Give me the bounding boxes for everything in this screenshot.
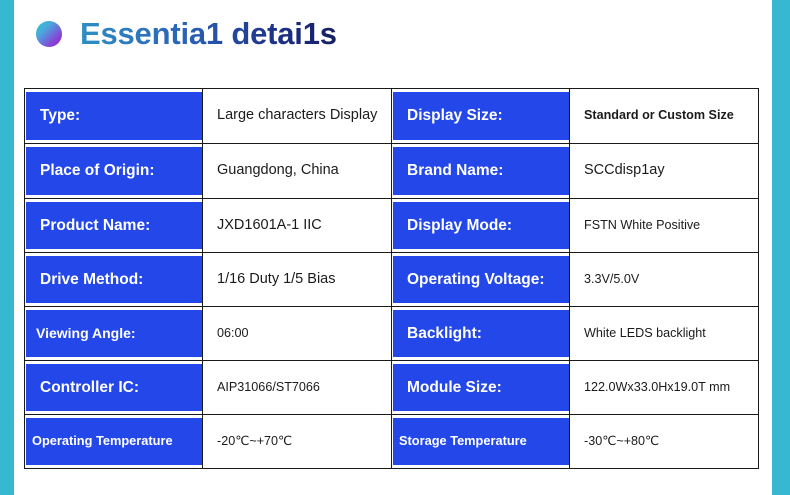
spec-label-cell: Display Mode: <box>392 199 570 253</box>
spec-label-cell: Drive Method: <box>25 253 203 307</box>
spec-value: 06:00 <box>203 326 391 341</box>
table-row: Product Name: JXD1601A-1 IIC Display Mod… <box>25 199 759 253</box>
spec-value-cell: 3.3V/5.0V <box>570 253 759 307</box>
spec-value: SCCdisp1ay <box>570 162 758 179</box>
spec-value: Standard or Custom Size <box>570 108 758 123</box>
spec-value: 1/16 Duty 1/5 Bias <box>203 271 391 288</box>
page-title: Essentia1 detai1s <box>80 18 337 49</box>
spec-label-cell: Place of Origin: <box>25 144 203 199</box>
spec-label: Display Mode: <box>393 217 512 234</box>
spec-value-cell: 1/16 Duty 1/5 Bias <box>203 253 392 307</box>
right-accent-bar <box>772 0 790 495</box>
table-row: Drive Method: 1/16 Duty 1/5 Bias Operati… <box>25 253 759 307</box>
spec-value-cell: Large characters Display <box>203 89 392 144</box>
spec-label: Display Size: <box>393 107 503 124</box>
spec-value-cell: White LEDS backlight <box>570 307 759 361</box>
spec-label: Operating Temperature <box>26 434 173 448</box>
spec-value: 3.3V/5.0V <box>570 272 758 287</box>
spec-label-cell: Module Size: <box>392 361 570 415</box>
spec-label: Place of Origin: <box>26 162 155 179</box>
spec-value-cell: SCCdisp1ay <box>570 144 759 199</box>
spec-label: Brand Name: <box>393 162 503 179</box>
spec-label-cell: Product Name: <box>25 199 203 253</box>
table-row: Controller IC: AIP31066/ST7066 Module Si… <box>25 361 759 415</box>
page-header: Essentia1 detai1s <box>36 18 337 49</box>
spec-label-cell: Operating Temperature <box>25 415 203 469</box>
spec-value: White LEDS backlight <box>570 326 758 341</box>
spec-value-cell: FSTN White Positive <box>570 199 759 253</box>
spec-label: Storage Temperature <box>393 434 527 448</box>
spec-value: -20℃~+70℃ <box>203 434 391 449</box>
table-row: Operating Temperature -20℃~+70℃ Storage … <box>25 415 759 469</box>
spec-label: Controller IC: <box>26 379 139 396</box>
spec-label-cell: Display Size: <box>392 89 570 144</box>
spec-label-cell: Controller IC: <box>25 361 203 415</box>
spec-label: Type: <box>26 107 80 124</box>
spec-label: Operating Voltage: <box>393 271 545 288</box>
spec-label-cell: Type: <box>25 89 203 144</box>
spec-label: Drive Method: <box>26 271 143 288</box>
spec-value-cell: 06:00 <box>203 307 392 361</box>
spec-label-cell: Viewing Angle: <box>25 307 203 361</box>
spec-value: FSTN White Positive <box>570 218 758 233</box>
table-row: Place of Origin: Guangdong, China Brand … <box>25 144 759 199</box>
specifications-table: Type: Large characters Display Display S… <box>24 88 759 469</box>
spec-value-cell: JXD1601A-1 IIC <box>203 199 392 253</box>
table-row: Viewing Angle: 06:00 Backlight: White LE… <box>25 307 759 361</box>
circle-bullet-icon <box>36 21 62 47</box>
table-row: Type: Large characters Display Display S… <box>25 89 759 144</box>
spec-value: Guangdong, China <box>203 162 391 179</box>
spec-value: JXD1601A-1 IIC <box>203 217 391 234</box>
spec-value-cell: -30℃~+80℃ <box>570 415 759 469</box>
spec-label-cell: Brand Name: <box>392 144 570 199</box>
spec-value-cell: Guangdong, China <box>203 144 392 199</box>
left-accent-bar <box>0 0 14 495</box>
spec-label-cell: Operating Voltage: <box>392 253 570 307</box>
spec-value-cell: -20℃~+70℃ <box>203 415 392 469</box>
spec-label: Backlight: <box>393 325 482 342</box>
spec-label: Module Size: <box>393 379 502 396</box>
spec-label-cell: Backlight: <box>392 307 570 361</box>
spec-value: 122.0Wx33.0Hx19.0T mm <box>570 380 758 395</box>
spec-value: AIP31066/ST7066 <box>203 380 391 395</box>
content-page: Essentia1 detai1s Type: Large characters… <box>14 0 772 495</box>
spec-value-cell: AIP31066/ST7066 <box>203 361 392 415</box>
spec-label: Product Name: <box>26 217 150 234</box>
spec-value-cell: 122.0Wx33.0Hx19.0T mm <box>570 361 759 415</box>
spec-value: -30℃~+80℃ <box>570 434 758 449</box>
spec-label: Viewing Angle: <box>26 326 136 341</box>
spec-value-cell: Standard or Custom Size <box>570 89 759 144</box>
spec-label-cell: Storage Temperature <box>392 415 570 469</box>
spec-value: Large characters Display <box>203 107 391 124</box>
